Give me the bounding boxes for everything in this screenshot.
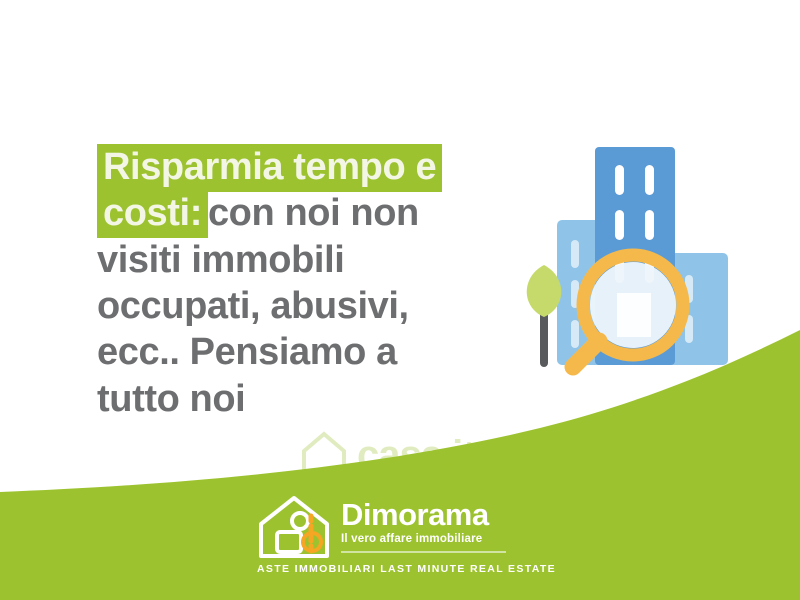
dimorama-logo-lockup: Dimorama Il vero affare immobiliare ASTE… — [255, 494, 555, 589]
tree-icon — [527, 265, 562, 367]
headline-line-3: visiti immobili — [97, 237, 497, 283]
brand-tagline: Il vero affare immobiliare — [341, 534, 506, 546]
promo-banner: Risparmia tempo e costi:con noi non visi… — [0, 0, 800, 600]
headline-line-4: occupati, abusivi, — [97, 283, 497, 329]
headline-line-2: costi:con noi non — [97, 190, 497, 236]
headline-line-6: tutto noi — [97, 376, 497, 422]
casa-house-icon — [300, 429, 348, 481]
magnifier-icon — [573, 255, 683, 367]
brand-name: Dimorama — [341, 499, 506, 530]
headline-rest-2: con noi non — [208, 192, 419, 234]
headline-highlight-1: Risparmia tempo e — [97, 144, 442, 192]
headline-highlight-2: costi: — [97, 190, 208, 238]
brand-subline: ASTE IMMOBILIARI LAST MINUTE REAL ESTATE — [257, 563, 553, 575]
casa-it-watermark: casa.it — [300, 424, 530, 486]
headline: Risparmia tempo e costi:con noi non visi… — [97, 144, 497, 422]
headline-line-5: ecc.. Pensiamo a — [97, 329, 497, 375]
headline-line-1: Risparmia tempo e — [97, 144, 497, 190]
dimorama-house-icon — [255, 494, 333, 560]
buildings-illustration — [505, 125, 760, 385]
brand-divider — [341, 551, 506, 553]
casa-it-wordmark: casa.it — [357, 435, 475, 475]
